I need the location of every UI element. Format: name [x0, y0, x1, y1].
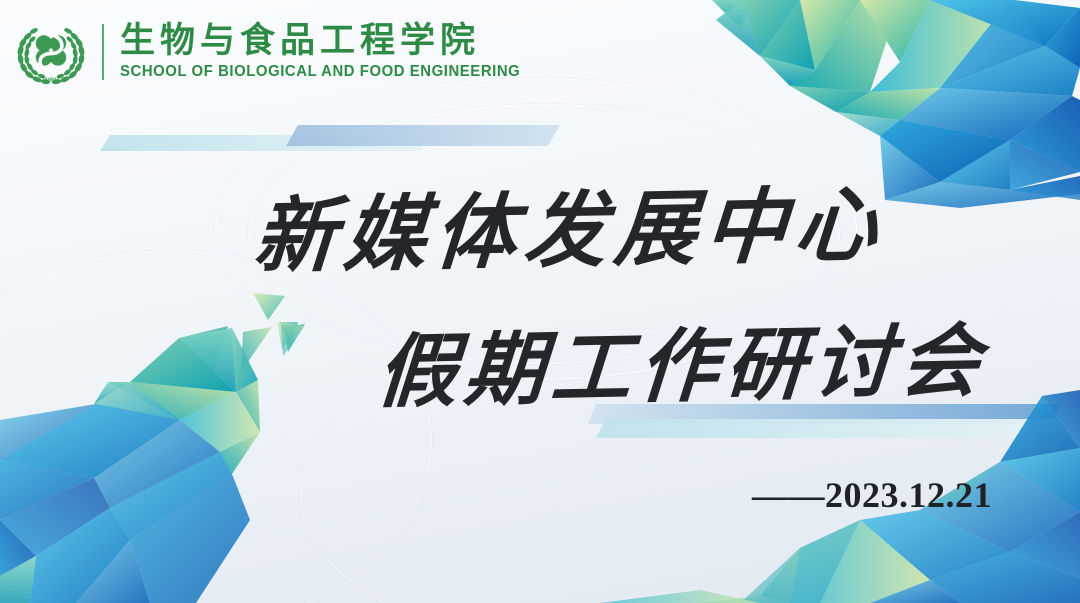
brand-text-block: 生物与食品工程学院 SCHOOL OF BIOLOGICAL AND FOOD … — [120, 23, 537, 81]
presentation-title-slide: 1981 生物与食品工程学院 SCHOOL OF BIOLOGICAL AND … — [0, 0, 1080, 603]
polygon-cluster-bottom-left — [0, 328, 260, 603]
brand-divider — [102, 24, 104, 80]
polygon-cluster-top-right — [712, 0, 1080, 208]
school-brand-lockup: 1981 生物与食品工程学院 SCHOOL OF BIOLOGICAL AND … — [12, 10, 537, 94]
band-bottom-right-pale — [596, 419, 1068, 438]
school-name-cn: 生物与食品工程学院 — [120, 23, 537, 59]
school-name-en: SCHOOL OF BIOLOGICAL AND FOOD ENGINEERIN… — [120, 63, 520, 81]
band-top-left-blue — [286, 125, 560, 146]
event-date: ——2023.12.21 — [752, 474, 992, 516]
school-crest-laurel-wreath-logo: 1981 — [12, 13, 90, 91]
crest-year-text: 1981 — [45, 78, 57, 84]
